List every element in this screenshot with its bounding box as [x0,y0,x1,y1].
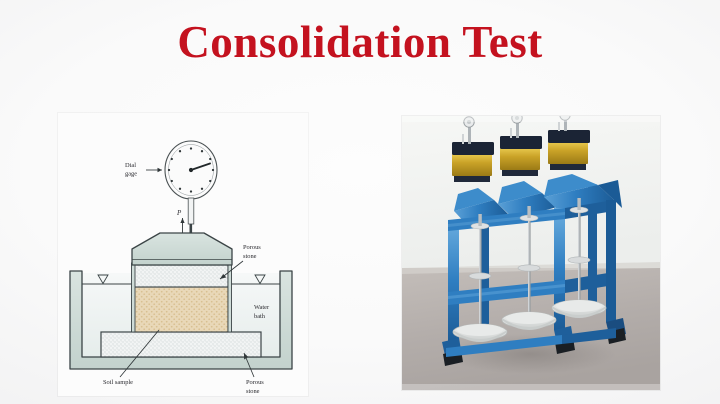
soil-sample-label-text: Soil sample [103,379,133,386]
top-porous-stone-region [134,265,228,287]
slide-canvas: Consolidation Test [0,0,720,404]
consolidation-apparatus-photo [402,116,660,390]
consolidation-schematic-svg: Dial gage P [58,113,308,396]
dial-gage-label-line2: gage [125,171,137,178]
consolidation-schematic-panel: Dial gage P [58,113,308,396]
page-title: Consolidation Test [0,20,720,65]
consolidation-apparatus-photo-svg [402,116,660,390]
bottom-porous-stone-pedestal [101,332,261,357]
porous-stone-top-line1: Porous [243,244,261,251]
porous-stone-top-line2: stone [243,253,257,260]
porous-stone-bottom-line2: stone [246,388,260,395]
water-bath-line1: Water [254,304,270,311]
soil-sample-region [134,287,228,332]
porous-stone-bottom-line1: Porous [246,379,264,386]
load-symbol-label: P [176,209,182,217]
dial-gage-label-line1: Dial [125,162,136,169]
water-bath-line2: bath [254,313,266,320]
